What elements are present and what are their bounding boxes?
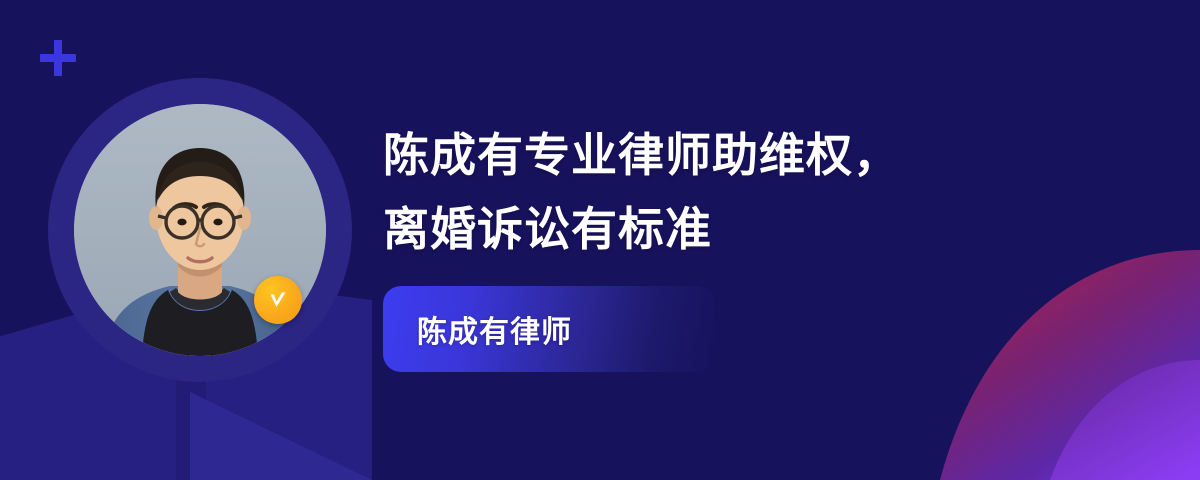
avatar <box>48 78 352 382</box>
verified-badge-icon <box>254 276 302 324</box>
promo-banner: 陈成有专业律师助维权， 离婚诉讼有标准 陈成有律师 <box>0 0 1200 480</box>
content-block: 陈成有专业律师助维权， 离婚诉讼有标准 陈成有律师 <box>383 118 1143 372</box>
headline-line-2: 离婚诉讼有标准 <box>383 192 1143 266</box>
plus-icon <box>38 38 78 78</box>
lawyer-name-button[interactable]: 陈成有律师 <box>383 286 715 372</box>
headline-line-1: 陈成有专业律师助维权， <box>383 118 1143 192</box>
